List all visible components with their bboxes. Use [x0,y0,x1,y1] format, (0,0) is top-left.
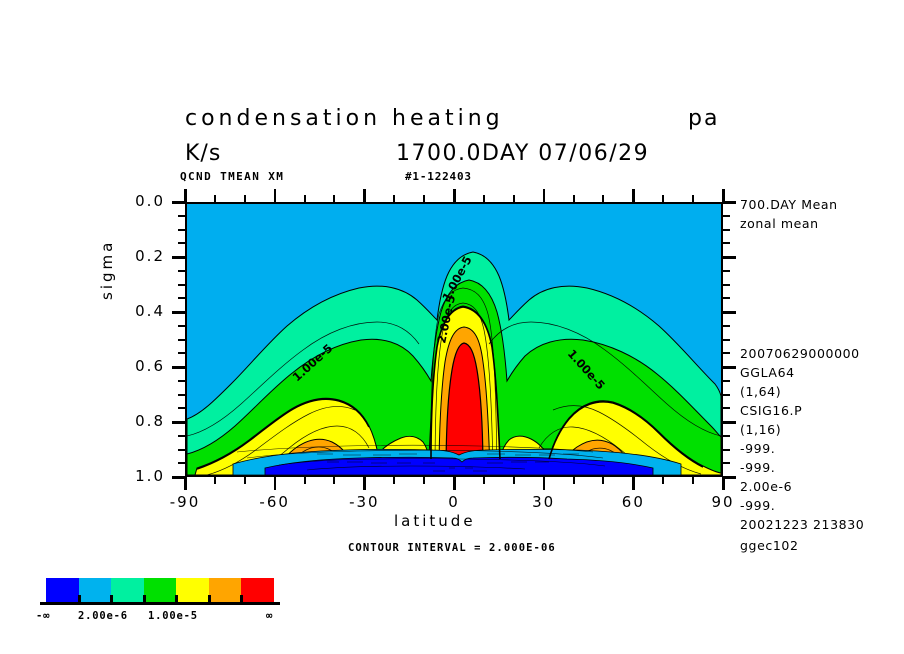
metadata-line-1: zonal mean [740,216,819,231]
colorbar-swatch-4 [176,578,209,602]
y-tick-minor-9 [178,325,185,327]
x-tick-minor-10 [483,477,485,484]
colorbar-tick-1 [78,595,81,602]
colorbar-label-3: ∞ [266,610,273,622]
x-tick-minor-t-5 [333,195,335,202]
chart-subtitle-left: QCND TMEAN XM [180,170,284,183]
colorbar-tick-2 [110,595,113,602]
x-tick-minor-t-13 [573,195,575,202]
chart-title-pa: pa [688,106,719,131]
metadata-line-7: -999. [740,441,775,456]
y-tick-minor-14 [178,394,185,396]
metadata-line-10: -999. [740,498,775,513]
y-tick-major-3 [172,366,185,369]
x-tick-minor-7 [393,477,395,484]
y-tick-label-5: 1.0 [119,467,165,485]
y-tick-minor-r-11 [723,352,730,354]
y-tick-label-1: 0.2 [119,247,165,265]
contour-interval-note: CONTOUR INTERVAL = 2.000E-06 [348,542,556,554]
colorbar-label-1: 2.00e-6 [78,610,128,622]
y-tick-label-0: 0.0 [119,192,165,210]
y-tick-minor-3 [178,242,185,244]
y-tick-minor-r-5 [723,270,730,272]
x-tick-minor-11 [513,477,515,484]
x-tick-minor-t-11 [513,195,515,202]
y-tick-minor-18 [178,449,185,451]
y-tick-minor-13 [178,380,185,382]
colorbar-tick-6 [240,595,243,602]
colorbar-tick-5 [208,595,211,602]
y-tick-minor-17 [178,435,185,437]
y-tick-major-r-2 [723,311,736,314]
x-tick-minor-t-4 [304,195,306,202]
x-tick-minor-4 [304,477,306,484]
y-tick-minor-10 [178,339,185,341]
x-tick-minor-8 [423,477,425,484]
y-tick-label-4: 0.8 [119,412,165,430]
y-tick-minor-19 [178,462,185,464]
colorbar-swatch-1 [79,578,112,602]
y-tick-minor-r-7 [723,297,730,299]
chart-title: condensation heating [185,106,504,131]
y-tick-minor-1 [178,215,185,217]
y-tick-minor-11 [178,352,185,354]
x-tick-minor-t-16 [662,195,664,202]
x-tick-label-5: 60 [603,493,663,511]
x-tick-major-5 [632,477,635,490]
y-tick-label-3: 0.6 [119,357,165,375]
colorbar-label-2: 1.00e-5 [148,610,198,622]
colorbar-label-0: -∞ [36,610,50,622]
y-tick-minor-r-2 [723,229,730,231]
y-tick-minor-6 [178,284,185,286]
x-tick-label-4: 30 [514,493,574,511]
colorbar-swatch-2 [111,578,144,602]
x-tick-major-t-1 [274,189,277,202]
y-tick-minor-r-6 [723,284,730,286]
colorbar-tick-4 [175,595,178,602]
contour-plot-area: 1.00e-5 2.00e-5 1.00e-5 1.00e-5 [185,202,723,477]
chart-day-label: 1700.0DAY 07/06/29 [396,141,649,166]
y-tick-minor-r-9 [723,325,730,327]
metadata-line-8: -999. [740,460,775,475]
y-tick-major-r-0 [723,201,736,204]
x-tick-minor-t-7 [393,195,395,202]
x-tick-minor-5 [333,477,335,484]
x-tick-major-t-0 [184,189,187,202]
x-tick-minor-t-1 [214,195,216,202]
y-tick-minor-r-18 [723,449,730,451]
colorbar-swatch-6 [241,578,274,602]
y-tick-major-4 [172,421,185,424]
y-tick-major-1 [172,256,185,259]
x-tick-label-0: -90 [155,493,215,511]
x-tick-major-t-5 [632,189,635,202]
y-tick-major-2 [172,311,185,314]
x-tick-major-2 [363,477,366,490]
x-tick-label-1: -60 [245,493,305,511]
x-tick-minor-16 [662,477,664,484]
x-tick-minor-1 [214,477,216,484]
x-axis-title: latitude [394,512,476,530]
y-tick-minor-r-14 [723,394,730,396]
x-tick-minor-2 [244,477,246,484]
chart-units-label: K/s [185,141,221,166]
y-tick-major-r-4 [723,421,736,424]
metadata-line-12: ggec102 [740,538,799,553]
x-tick-minor-t-10 [483,195,485,202]
x-tick-label-2: -30 [334,493,394,511]
metadata-line-3: GGLA64 [740,365,795,380]
x-tick-major-3 [453,477,456,490]
y-tick-minor-r-17 [723,435,730,437]
colorbar-swatch-5 [209,578,242,602]
y-tick-minor-r-15 [723,407,730,409]
metadata-line-6: (1,16) [740,422,781,437]
metadata-line-5: CSIG16.P [740,403,802,418]
x-tick-major-t-2 [363,189,366,202]
x-tick-minor-t-8 [423,195,425,202]
y-tick-minor-15 [178,407,185,409]
x-tick-minor-13 [573,477,575,484]
y-tick-minor-7 [178,297,185,299]
x-tick-major-0 [184,477,187,490]
y-tick-minor-r-3 [723,242,730,244]
x-tick-major-t-3 [453,189,456,202]
x-tick-major-6 [722,477,725,490]
contour-field: 1.00e-5 2.00e-5 1.00e-5 1.00e-5 [187,204,721,475]
colorbar-swatch-0 [46,578,79,602]
x-tick-minor-t-2 [244,195,246,202]
y-tick-minor-2 [178,229,185,231]
y-tick-major-r-3 [723,366,736,369]
metadata-line-0: 700.DAY Mean [740,197,838,212]
metadata-line-4: (1,64) [740,384,781,399]
x-tick-major-4 [543,477,546,490]
colorbar-axis [40,602,280,605]
y-tick-minor-r-1 [723,215,730,217]
y-tick-minor-r-10 [723,339,730,341]
metadata-line-9: 2.00e-6 [740,479,792,494]
y-tick-major-r-5 [723,476,736,479]
x-tick-label-3: 0 [424,493,484,511]
y-tick-label-2: 0.4 [119,302,165,320]
x-tick-minor-t-14 [602,195,604,202]
y-axis-title: sigma [98,240,116,300]
x-tick-major-t-4 [543,189,546,202]
y-tick-major-r-1 [723,256,736,259]
x-tick-minor-t-17 [692,195,694,202]
colorbar-tick-3 [143,595,146,602]
y-tick-minor-r-13 [723,380,730,382]
y-tick-minor-r-19 [723,462,730,464]
chart-subtitle-right: #1-122403 [405,170,472,183]
x-tick-minor-17 [692,477,694,484]
x-tick-major-t-6 [722,189,725,202]
x-tick-major-1 [274,477,277,490]
metadata-line-2: 20070629000000 [740,346,860,361]
metadata-line-11: 20021223 213830 [740,517,864,532]
y-tick-minor-5 [178,270,185,272]
x-tick-minor-14 [602,477,604,484]
colorbar-swatch-3 [144,578,177,602]
